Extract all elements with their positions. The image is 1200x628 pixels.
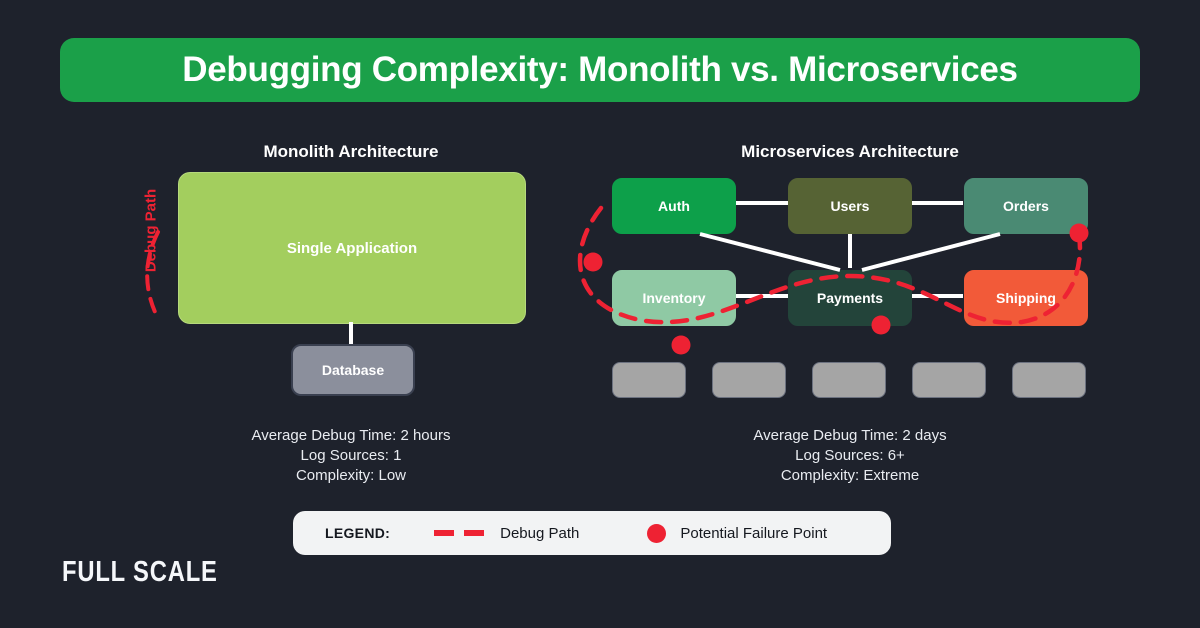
single-application-box: Single Application [178, 172, 526, 324]
microservices-heading: Microservices Architecture [610, 142, 1090, 162]
microservices-complexity: Complexity: Extreme [610, 466, 1090, 486]
legend-item-failure-point: Potential Failure Point [579, 524, 827, 543]
title-banner: Debugging Complexity: Monolith vs. Micro… [60, 38, 1140, 102]
red-dot-icon [647, 524, 666, 543]
legend-failure-point-label: Potential Failure Point [680, 525, 827, 542]
monolith-heading: Monolith Architecture [180, 142, 522, 162]
monolith-stats: Average Debug Time: 2 hours Log Sources:… [180, 426, 522, 486]
service-box-payments: Payments [788, 270, 912, 326]
legend: LEGEND: Debug Path Potential Failure Poi… [293, 511, 891, 555]
service-label: Orders [1003, 198, 1049, 214]
monolith-debug-path-label: Debug Path [143, 176, 160, 286]
database-label: Database [322, 362, 384, 378]
infographic-canvas: Debugging Complexity: Monolith vs. Micro… [0, 0, 1200, 628]
legend-debug-path-label: Debug Path [500, 525, 579, 542]
dashed-line-icon [434, 530, 486, 536]
page-title: Debugging Complexity: Monolith vs. Micro… [182, 50, 1017, 90]
service-box-users: Users [788, 178, 912, 234]
service-box-auth: Auth [612, 178, 736, 234]
service-box-inventory: Inventory [612, 270, 736, 326]
brand-logo: FULL SCALE [62, 556, 218, 589]
database-box: Database [291, 344, 415, 396]
service-label: Auth [658, 198, 690, 214]
legend-item-debug-path: Debug Path [390, 525, 579, 542]
monolith-debug-time: Average Debug Time: 2 hours [180, 426, 522, 446]
microservices-stats: Average Debug Time: 2 days Log Sources: … [610, 426, 1090, 486]
single-application-label: Single Application [287, 240, 417, 257]
placeholder-box [1012, 362, 1086, 398]
service-box-orders: Orders [964, 178, 1088, 234]
placeholder-box [912, 362, 986, 398]
placeholder-box [712, 362, 786, 398]
legend-title: LEGEND: [325, 525, 390, 541]
service-label: Shipping [996, 290, 1056, 306]
service-box-shipping: Shipping [964, 270, 1088, 326]
failure-point-dot [584, 253, 603, 272]
service-label: Inventory [642, 290, 705, 306]
monolith-db-connector [349, 322, 353, 346]
monolith-log-sources: Log Sources: 1 [180, 446, 522, 466]
service-label: Users [831, 198, 870, 214]
placeholder-box [812, 362, 886, 398]
failure-point-dot [672, 336, 691, 355]
service-label: Payments [817, 290, 883, 306]
microservices-log-sources: Log Sources: 6+ [610, 446, 1090, 466]
placeholder-box [612, 362, 686, 398]
monolith-complexity: Complexity: Low [180, 466, 522, 486]
microservices-debug-time: Average Debug Time: 2 days [610, 426, 1090, 446]
